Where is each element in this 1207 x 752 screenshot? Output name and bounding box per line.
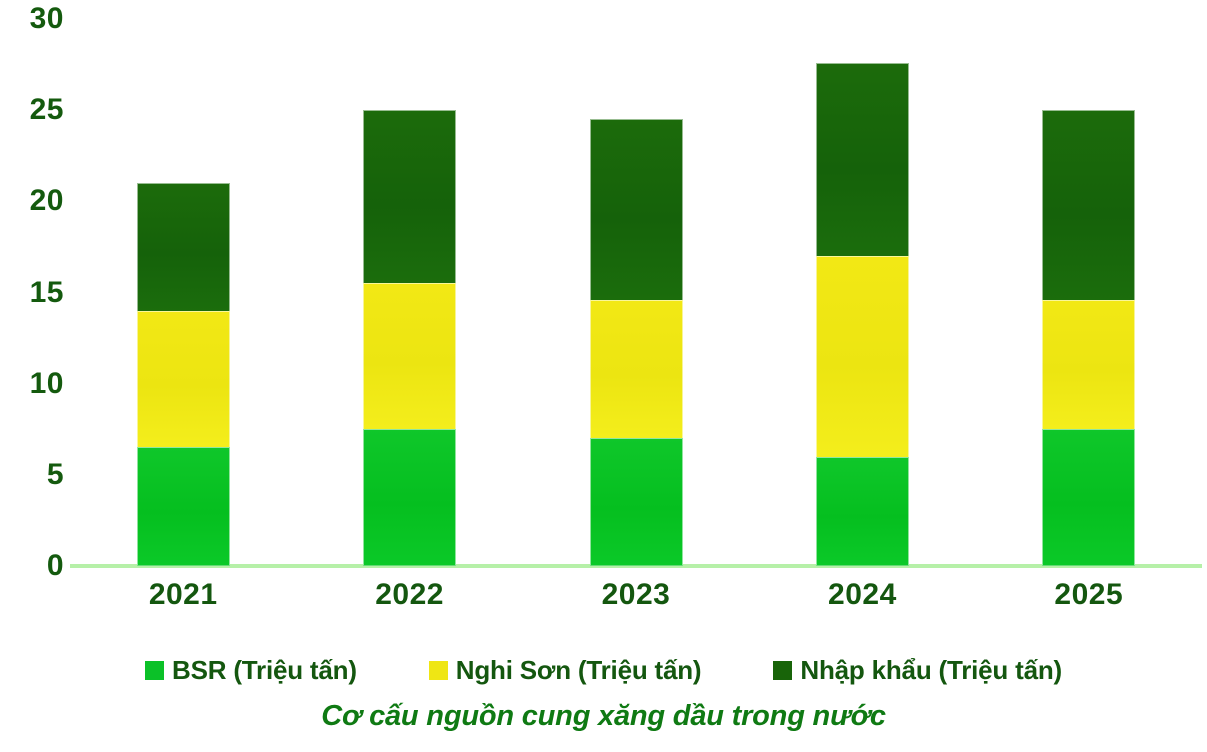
stacked-bar-chart: 051015202530 20212022202320242025 BSR (T… <box>0 0 1207 752</box>
bar-segment-nghison[interactable] <box>363 283 456 429</box>
y-tick-label: 5 <box>47 458 64 492</box>
bar-segment-nghison[interactable] <box>590 300 683 439</box>
legend-item[interactable]: Nhập khẩu (Triệu tấn) <box>773 655 1062 686</box>
y-tick-label: 0 <box>47 549 64 583</box>
bar-segment-nghison[interactable] <box>816 256 909 457</box>
bars-layer <box>70 0 1202 600</box>
bar-segment-import[interactable] <box>590 119 683 300</box>
x-tick-label: 2024 <box>782 578 942 612</box>
y-tick-label: 10 <box>30 367 64 401</box>
y-axis: 051015202530 <box>0 0 64 600</box>
y-tick-label: 15 <box>30 276 64 310</box>
bar-segment-nghison[interactable] <box>137 311 230 448</box>
bar-segment-import[interactable] <box>363 110 456 283</box>
bar-group[interactable] <box>137 183 230 566</box>
bar-group[interactable] <box>590 119 683 566</box>
bar-stack <box>137 183 230 566</box>
bar-segment-import[interactable] <box>816 63 909 256</box>
bar-segment-nghison[interactable] <box>1042 300 1135 429</box>
legend-item[interactable]: BSR (Triệu tấn) <box>145 655 357 686</box>
chart-legend: BSR (Triệu tấn)Nghi Sơn (Triệu tấn)Nhập … <box>0 655 1207 686</box>
x-axis: 20212022202320242025 <box>70 578 1202 628</box>
legend-swatch-icon <box>145 661 164 680</box>
bar-segment-import[interactable] <box>1042 110 1135 300</box>
x-tick-label: 2023 <box>556 578 716 612</box>
legend-item[interactable]: Nghi Sơn (Triệu tấn) <box>429 655 702 686</box>
x-tick-label: 2022 <box>330 578 490 612</box>
bar-segment-bsr[interactable] <box>137 447 230 566</box>
x-tick-label: 2025 <box>1009 578 1169 612</box>
legend-swatch-icon <box>429 661 448 680</box>
y-tick-label: 30 <box>30 2 64 36</box>
bar-segment-bsr[interactable] <box>1042 429 1135 566</box>
legend-label: BSR (Triệu tấn) <box>172 655 357 686</box>
y-tick-label: 20 <box>30 184 64 218</box>
bar-group[interactable] <box>816 63 909 566</box>
bar-stack <box>363 110 456 566</box>
bar-segment-bsr[interactable] <box>363 429 456 566</box>
bar-stack <box>590 119 683 566</box>
bar-segment-bsr[interactable] <box>590 438 683 566</box>
bar-segment-bsr[interactable] <box>816 457 909 566</box>
legend-label: Nhập khẩu (Triệu tấn) <box>800 655 1062 686</box>
legend-label: Nghi Sơn (Triệu tấn) <box>456 655 702 686</box>
bar-group[interactable] <box>1042 110 1135 566</box>
y-tick-label: 25 <box>30 93 64 127</box>
bar-group[interactable] <box>363 110 456 566</box>
x-tick-label: 2021 <box>103 578 263 612</box>
bar-stack <box>816 63 909 566</box>
bar-stack <box>1042 110 1135 566</box>
chart-title: Cơ cấu nguồn cung xăng dầu trong nước <box>0 700 1207 733</box>
legend-swatch-icon <box>773 661 792 680</box>
bar-segment-import[interactable] <box>137 183 230 311</box>
plot-area: 051015202530 20212022202320242025 <box>0 0 1207 600</box>
